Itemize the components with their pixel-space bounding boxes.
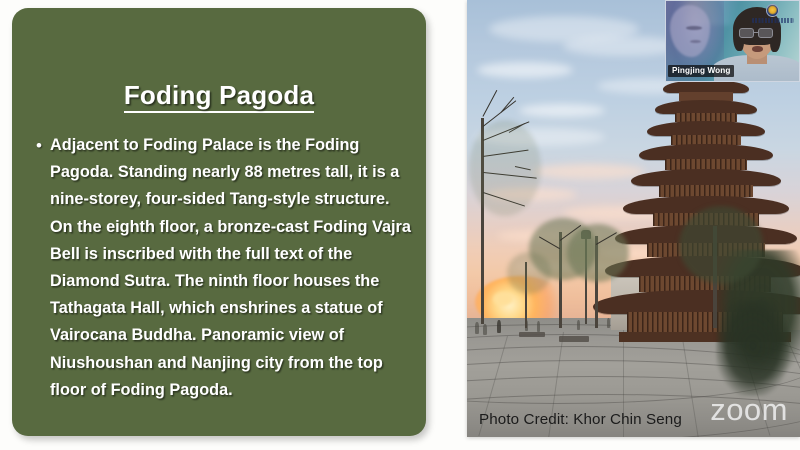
pagoda-eave <box>647 121 765 136</box>
visitor <box>483 324 487 335</box>
participant-video-tile[interactable]: Pingjing Wong <box>665 0 800 82</box>
cloud <box>477 62 573 78</box>
organization-badge-logo <box>752 4 794 24</box>
buddha-lips <box>690 40 701 43</box>
visitor <box>497 320 501 333</box>
eyeglasses-right-lens <box>758 28 773 38</box>
plaza-bench <box>519 332 545 337</box>
sun <box>493 292 513 306</box>
tree-canopy <box>507 252 551 294</box>
buddha-eye <box>686 26 702 30</box>
bullet-marker: • <box>28 132 50 159</box>
tree-canopy <box>679 206 763 284</box>
plaza-bench <box>559 336 589 342</box>
eyeglasses-bridge <box>754 32 758 33</box>
buddha-head <box>670 5 710 57</box>
pagoda-eave <box>631 169 781 186</box>
visitor <box>537 321 540 332</box>
badge-emblem-icon <box>766 4 779 17</box>
cloud <box>519 104 605 117</box>
text-panel: Foding Pagoda • Adjacent to Foding Palac… <box>12 8 426 436</box>
page-title-text: Foding Pagoda <box>124 80 314 113</box>
pagoda-eave <box>655 100 757 114</box>
tree-canopy <box>567 224 629 282</box>
photo-credit-text: Photo Credit: Khor Chin Seng <box>479 411 682 428</box>
bullet-list-item: • Adjacent to Foding Palace is the Fodin… <box>28 132 420 404</box>
page-title: Foding Pagoda <box>12 80 426 111</box>
tree-canopy <box>469 120 541 216</box>
slide-stage: Foding Pagoda • Adjacent to Foding Palac… <box>0 0 800 450</box>
bullet-body-text: Adjacent to Foding Palace is the Foding … <box>50 132 420 404</box>
eyeglasses-left-lens <box>739 28 754 38</box>
participant-mouth <box>752 46 763 52</box>
participant-name-label: Pingjing Wong <box>668 65 734 77</box>
visitor <box>607 318 610 328</box>
visitor <box>475 322 479 334</box>
evergreen-tree <box>716 300 790 396</box>
zoom-watermark: zoom <box>710 394 788 425</box>
visitor <box>577 320 580 330</box>
badge-caption-text <box>752 18 794 23</box>
pagoda-eave <box>639 144 773 160</box>
